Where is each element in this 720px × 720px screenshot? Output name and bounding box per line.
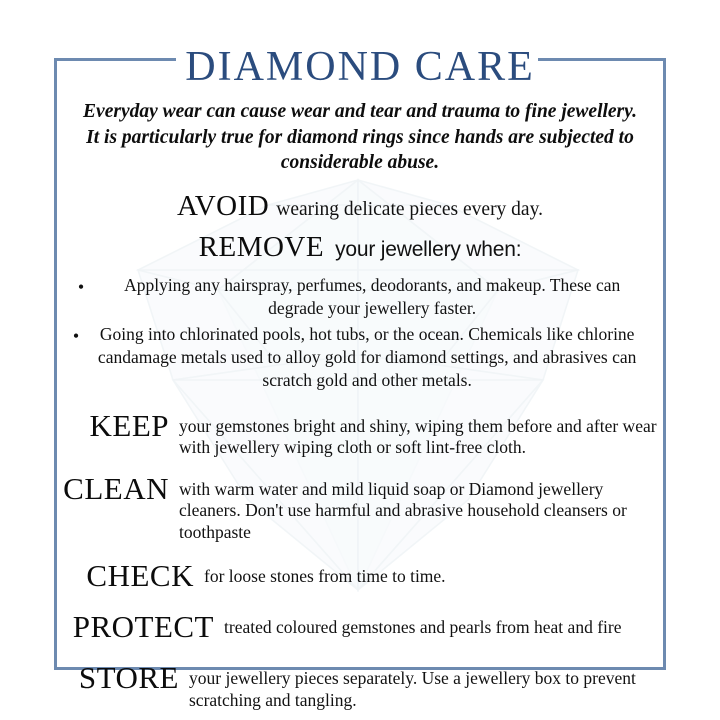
remove-line: REMOVEyour jewellery when: (54, 231, 666, 264)
remove-keyword: REMOVE (199, 231, 324, 263)
tip-text-keep: your gemstones bright and shiny, wiping … (179, 410, 666, 459)
list-item: • Applying any hairspray, perfumes, deod… (54, 274, 666, 320)
list-item: • Going into chlorinated pools, hot tubs… (54, 323, 666, 392)
remove-text: your jewellery when: (324, 238, 521, 261)
tip-row-check: CHECK for loose stones from time to time… (54, 560, 666, 592)
tip-text-clean: with warm water and mild liquid soap or … (179, 473, 666, 544)
bullet-text: Applying any hairspray, perfumes, deodor… (102, 274, 642, 320)
tip-keyword-check: CHECK (54, 560, 204, 592)
tip-text-store: your jewellery pieces separately. Use a … (189, 662, 666, 711)
tip-row-keep: KEEP your gemstones bright and shiny, wi… (54, 410, 666, 459)
diamond-care-poster: DIAMOND CARE Everyday wear can cause wea… (0, 0, 720, 720)
tip-keyword-protect: PROTECT (54, 611, 224, 643)
page-title: DIAMOND CARE (54, 40, 666, 92)
tip-text-check: for loose stones from time to time. (204, 560, 666, 588)
bullet-list: • Applying any hairspray, perfumes, deod… (54, 274, 666, 392)
bullet-text: Going into chlorinated pools, hot tubs, … (87, 323, 647, 392)
bullet-marker-icon: • (78, 274, 102, 299)
avoid-keyword: AVOID (177, 190, 269, 222)
poster-content: DIAMOND CARE Everyday wear can cause wea… (54, 40, 666, 711)
bullet-marker-icon: • (73, 323, 87, 348)
tip-row-clean: CLEAN with warm water and mild liquid so… (54, 473, 666, 544)
intro-paragraph: Everyday wear can cause wear and tear an… (76, 99, 644, 176)
tip-keyword-clean: CLEAN (54, 473, 179, 505)
tip-row-store: STORE your jewellery pieces separately. … (54, 662, 666, 711)
avoid-line: AVOIDwearing delicate pieces every day. (54, 190, 666, 223)
tip-keyword-keep: KEEP (54, 410, 179, 442)
tip-row-protect: PROTECT treated coloured gemstones and p… (54, 611, 666, 643)
tip-keyword-store: STORE (54, 662, 189, 694)
avoid-text: wearing delicate pieces every day. (269, 199, 543, 220)
tip-text-protect: treated coloured gemstones and pearls fr… (224, 611, 666, 639)
